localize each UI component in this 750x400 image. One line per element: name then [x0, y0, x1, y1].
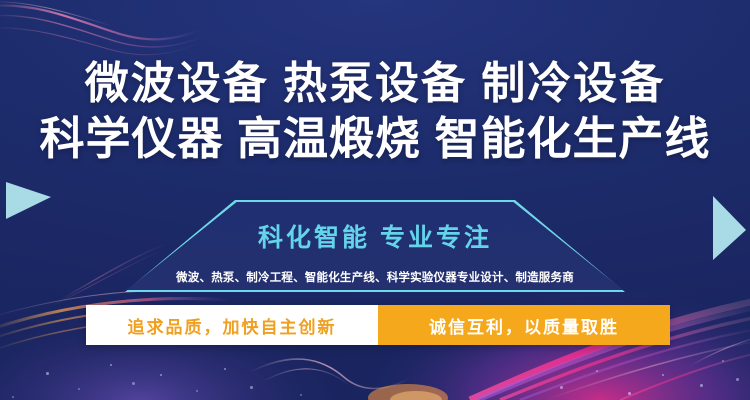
slogan-bar-group: 追求品质，加快自主创新 诚信互利，以质量取胜: [86, 305, 670, 345]
headline-line-2: 科学仪器 高温煅烧 智能化生产线: [0, 116, 750, 161]
promo-banner: 微波设备 热泵设备 制冷设备 科学仪器 高温煅烧 智能化生产线 科化智能 专业专…: [0, 0, 750, 400]
headline-line-1: 微波设备 热泵设备 制冷设备: [0, 62, 750, 106]
subtitle-description: 微波、热泵、制冷工程、智能化生产线、科学实验仪器专业设计、制造服务商: [125, 269, 625, 285]
slogan-integrity[interactable]: 诚信互利，以质量取胜: [378, 305, 670, 345]
page-title: 微波设备 热泵设备 制冷设备 科学仪器 高温煅烧 智能化生产线: [0, 62, 750, 161]
subtitle-main: 科化智能 专业专注: [125, 218, 625, 254]
subtitle-trapezoid: 科化智能 专业专注 微波、热泵、制冷工程、智能化生产线、科学实验仪器专业设计、制…: [125, 200, 625, 292]
slogan-quality[interactable]: 追求品质，加快自主创新: [86, 305, 378, 345]
triangle-right-icon-left: [6, 182, 51, 219]
triangle-right-icon-right: [713, 196, 746, 260]
